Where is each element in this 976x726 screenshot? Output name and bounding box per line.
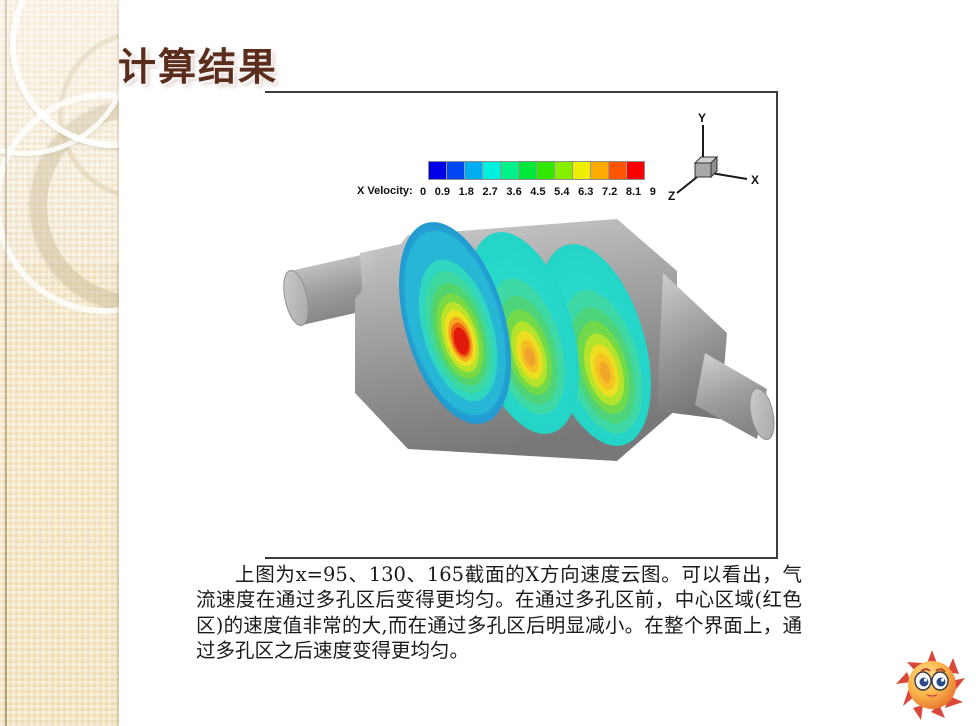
axis-label-y: Y (698, 111, 706, 125)
colorbar-segment-1 (447, 162, 465, 179)
sun-smiley-icon (893, 648, 971, 722)
colorbar-segment-7 (555, 162, 573, 179)
slide-canvas: 计算结果 X Velocity: 00.91.82.73.64.55.46.37… (0, 0, 976, 726)
colorbar-segment-5 (519, 162, 537, 179)
colorbar-tick-4: 3.6 (506, 186, 521, 198)
colorbar-tick-5: 4.5 (530, 186, 545, 198)
axis-label-x: X (751, 173, 759, 187)
axis-label-z: Z (668, 189, 675, 203)
colorbar-segment-11 (627, 162, 644, 179)
colorbar-tick-0: 0 (420, 186, 426, 198)
decorative-sidebar (0, 0, 119, 726)
colorbar-segment-8 (573, 162, 591, 179)
cfd-model-view (265, 213, 778, 513)
colorbar-tick-1: 0.9 (435, 186, 450, 198)
colorbar-segment-6 (537, 162, 555, 179)
axis-triad: Y X Z (655, 111, 765, 211)
colorbar-tick-8: 7.2 (602, 186, 617, 198)
colorbar-segment-9 (591, 162, 609, 179)
outlet-pipe (695, 353, 778, 442)
colorbar-segment-10 (609, 162, 627, 179)
page-title: 计算结果 (118, 36, 278, 91)
colorbar-tick-7: 6.3 (578, 186, 593, 198)
colorbar-tick-labels: 00.91.82.73.64.55.46.37.28.19 (420, 185, 656, 199)
colorbar-tick-2: 1.8 (459, 186, 474, 198)
colorbar-segment-2 (465, 162, 483, 179)
colorbar-label: X Velocity: (357, 185, 413, 197)
colorbar-segment-4 (501, 162, 519, 179)
figure-frame: X Velocity: 00.91.82.73.64.55.46.37.28.1… (265, 91, 778, 559)
sidebar-edge-line (5, 0, 7, 726)
colorbar-tick-6: 5.4 (554, 186, 569, 198)
colorbar-tick-9: 8.1 (626, 186, 641, 198)
colorbar-tick-3: 2.7 (483, 186, 498, 198)
colorbar-segment-3 (483, 162, 501, 179)
caption-paragraph: 上图为x=95、130、165截面的X方向速度云图。可以看出，气流速度在通过多孔… (196, 562, 802, 663)
cfd-model-svg (265, 213, 778, 513)
colorbar-segment-0 (429, 162, 447, 179)
colorbar-gradient (428, 161, 645, 180)
